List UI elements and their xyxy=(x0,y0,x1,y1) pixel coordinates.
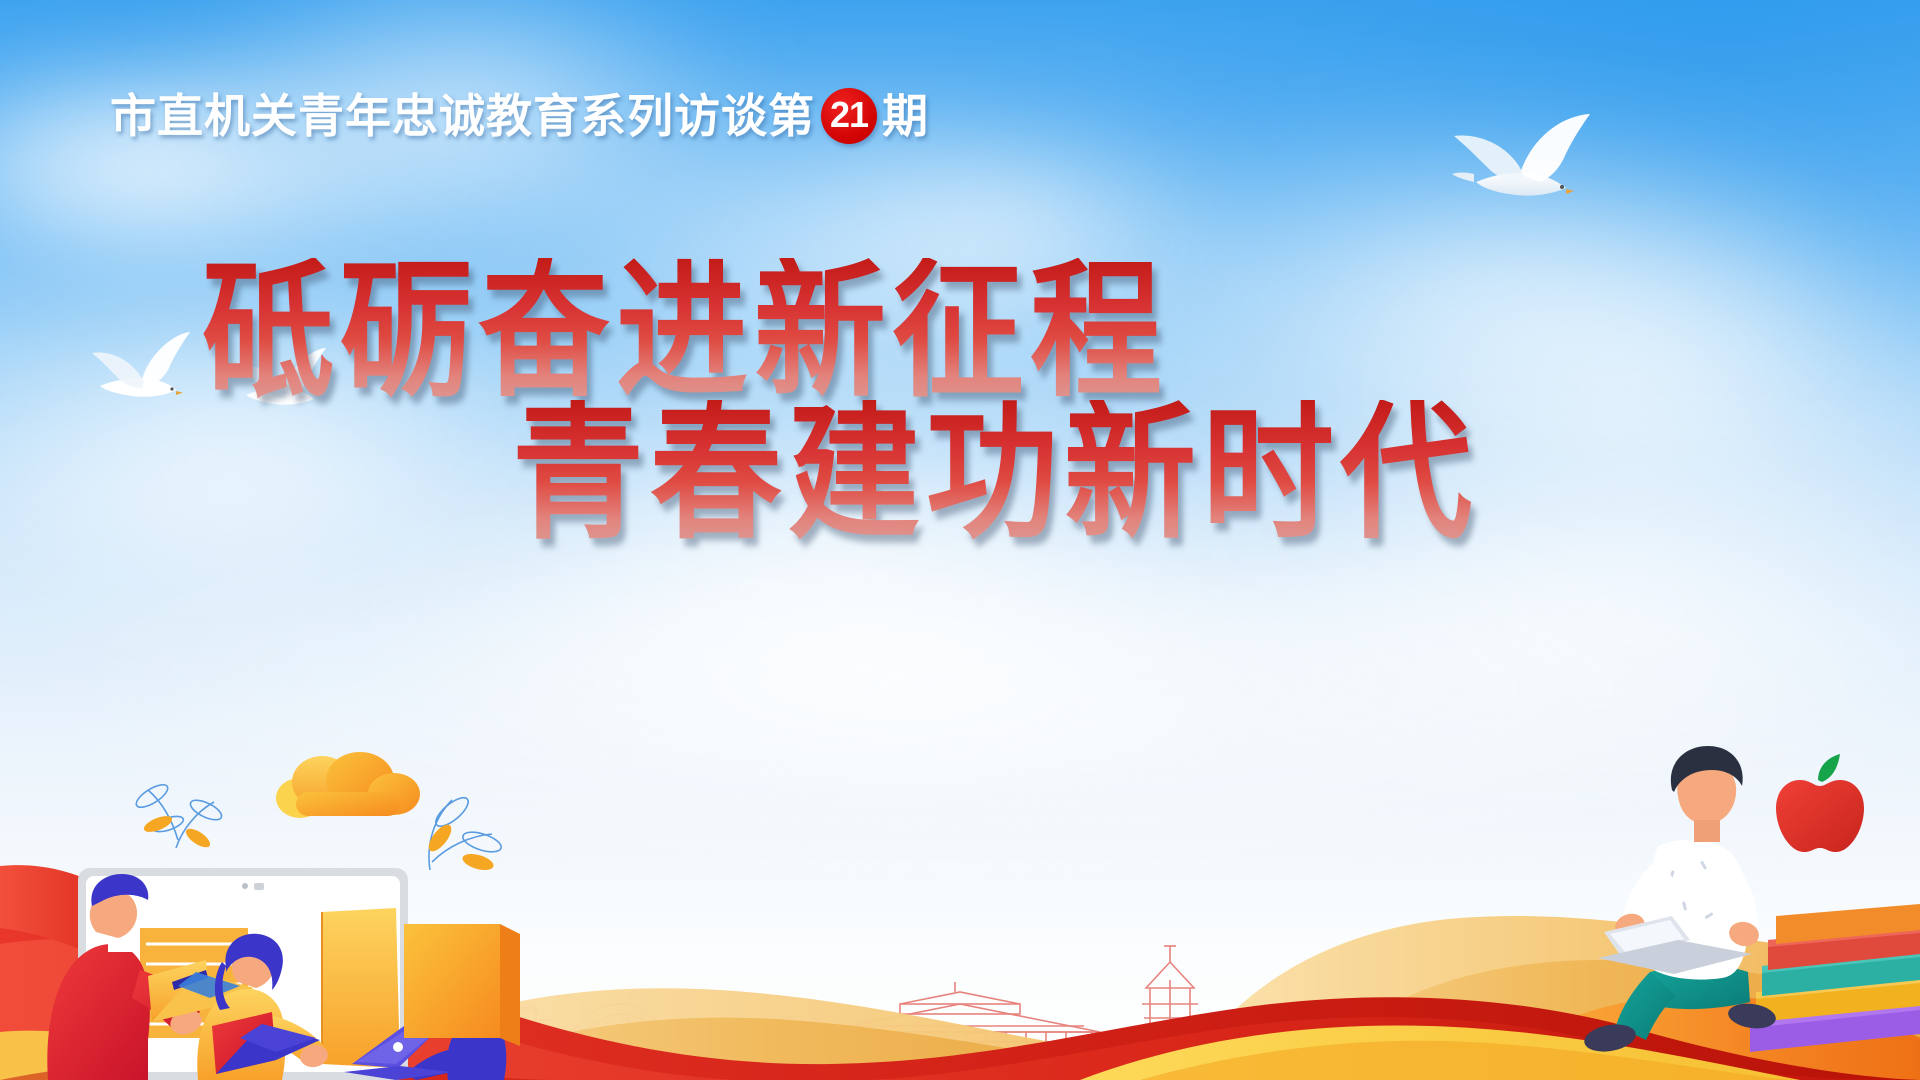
right-illustration-scene xyxy=(1500,720,1920,1080)
episode-number-text: 21 xyxy=(830,97,868,133)
header-prefix-text: 市直机关青年忠诚教育系列访谈第 xyxy=(110,93,815,139)
left-illustration-scene xyxy=(0,720,520,1080)
header-suffix-text: 期 xyxy=(882,93,929,139)
banner-canvas: 市直机关青年忠诚教育系列访谈第 21 期 砥砺奋进新征程 青春建功新时代 xyxy=(0,0,1920,1080)
apple-icon xyxy=(1776,754,1864,852)
banner-header: 市直机关青年忠诚教育系列访谈第 21 期 xyxy=(110,88,929,144)
plant-left xyxy=(133,781,224,848)
plant-right-leaves xyxy=(425,821,496,873)
orange-cloud-icon xyxy=(276,752,420,818)
dove-top-right-icon xyxy=(1440,110,1590,220)
desk-blocks xyxy=(404,924,520,1046)
dove-left-upper-icon xyxy=(80,330,190,420)
stacked-books xyxy=(1750,904,1920,1052)
dove-left-lower-icon xyxy=(230,345,326,425)
young-man-with-laptop-figure xyxy=(1582,746,1777,1055)
episode-number-badge: 21 xyxy=(821,88,877,144)
